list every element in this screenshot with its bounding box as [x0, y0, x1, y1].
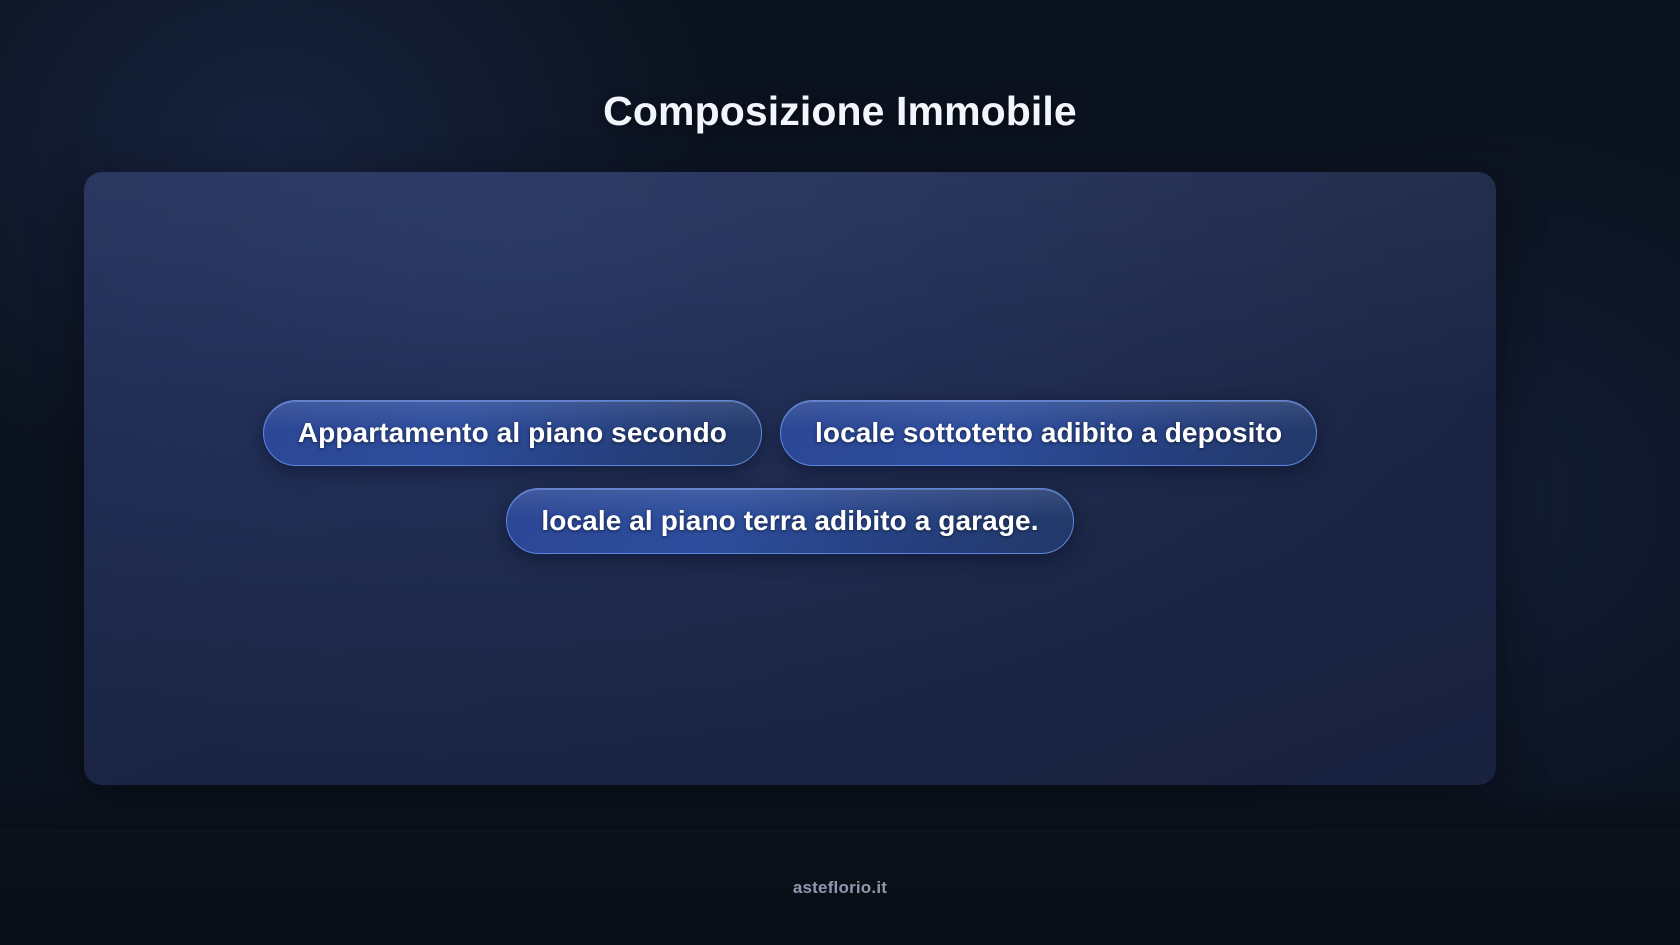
page-title: Composizione Immobile	[0, 88, 1680, 135]
footer: asteflorio.it	[0, 830, 1680, 945]
footer-shade	[0, 784, 1680, 830]
composition-card: Appartamento al piano secondo locale sot…	[84, 172, 1496, 785]
composition-pill-list: Appartamento al piano secondo locale sot…	[84, 400, 1496, 554]
composition-pill[interactable]: locale al piano terra adibito a garage.	[506, 488, 1073, 554]
composition-pill[interactable]: Appartamento al piano secondo	[263, 400, 762, 466]
site-watermark: asteflorio.it	[793, 878, 887, 898]
page-root: Composizione Immobile Appartamento al pi…	[0, 0, 1680, 945]
composition-pill[interactable]: locale sottotetto adibito a deposito	[780, 400, 1317, 466]
pill-row: locale al piano terra adibito a garage.	[506, 488, 1073, 554]
pill-row: Appartamento al piano secondo locale sot…	[263, 400, 1317, 466]
